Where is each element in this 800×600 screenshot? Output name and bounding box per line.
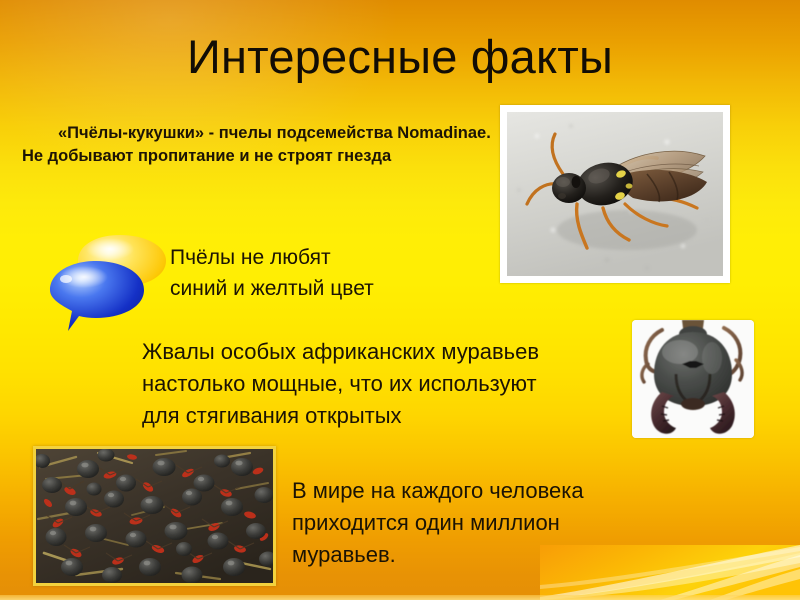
cuckoo-bee-illustration — [507, 112, 723, 276]
fact-line: приходится один миллион — [292, 507, 672, 539]
fact-text-bee-colors: Пчёлы не любят синий и желтый цвет — [170, 242, 500, 304]
fact-line: Пчёлы не любят — [170, 242, 500, 273]
presentation-slide: Интересные факты «Пчёлы-кукушки» - пчелы… — [0, 0, 800, 600]
fact-text-cuckoo-bees: «Пчёлы-кукушки» - пчелы подсемейства Nom… — [22, 122, 492, 168]
ant-head-illustration — [632, 320, 754, 438]
photo-ant-mandibles — [632, 320, 754, 438]
bottom-accent-strip — [0, 595, 800, 600]
fact-line: для стягивания открытых — [142, 400, 642, 432]
fact-line: синий и желтый цвет — [170, 273, 500, 304]
photo-ant-swarm — [33, 446, 276, 586]
fact-line: настолько мощные, что их используют — [142, 368, 642, 400]
ant-swarm-illustration — [36, 449, 273, 583]
page-title: Интересные факты — [0, 28, 800, 86]
speech-bubble-blue — [50, 261, 144, 331]
corner-swoosh-decoration — [540, 545, 800, 600]
fact-text-ant-mandibles: Жвалы особых африканских муравьев настол… — [142, 336, 642, 432]
photo-cuckoo-bee — [500, 105, 730, 283]
fact-line: В мире на каждого человека — [292, 475, 672, 507]
fact-line: Жвалы особых африканских муравьев — [142, 336, 642, 368]
speech-bubbles-decoration — [48, 225, 178, 337]
